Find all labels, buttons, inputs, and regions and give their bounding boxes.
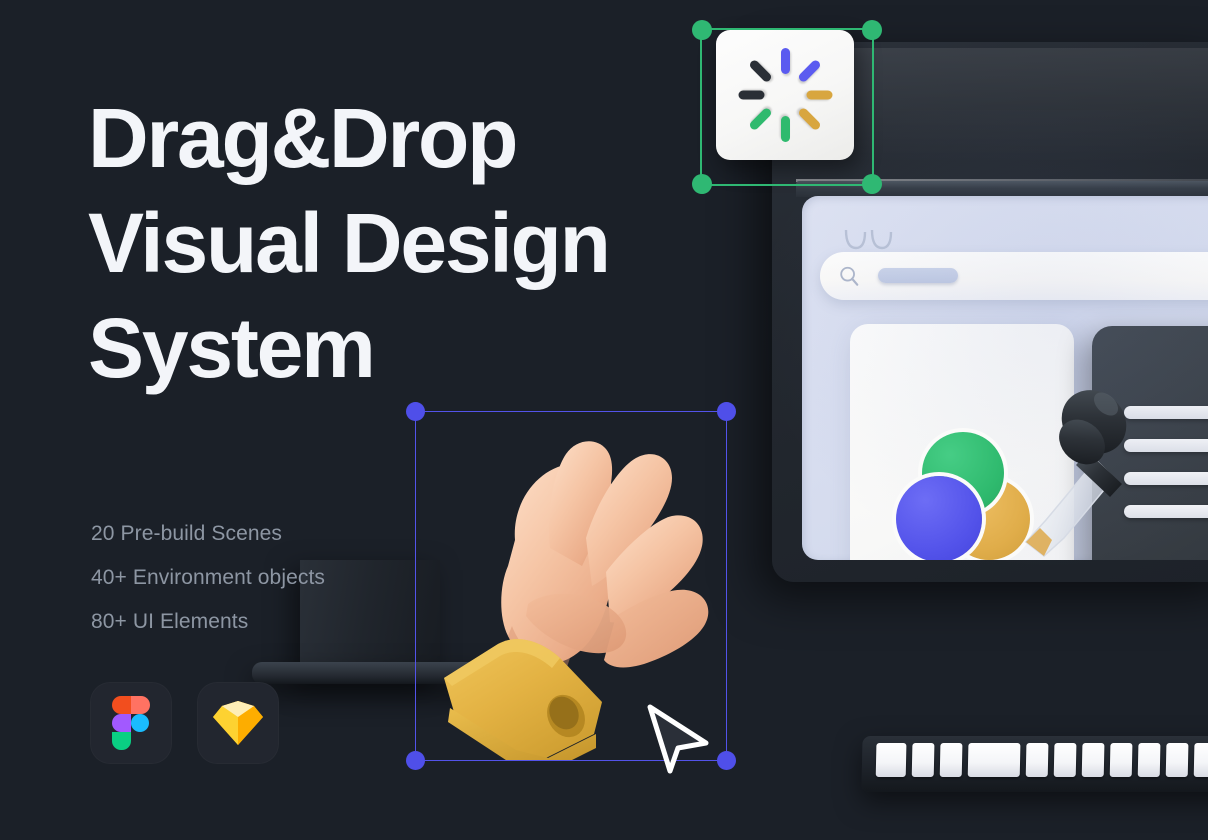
feature-item-objects: 40+ Environment objects (91, 556, 325, 600)
page-title: Drag&Drop Visual Design System (88, 86, 728, 401)
content-text-line (1124, 439, 1208, 452)
keyboard-key[interactable] (1138, 743, 1161, 777)
keyboard-key[interactable] (1082, 743, 1105, 777)
feature-item-scenes: 20 Pre-build Scenes (91, 512, 325, 556)
keyboard-key[interactable] (912, 743, 935, 777)
keyboard-key[interactable] (1026, 743, 1049, 777)
app-compatibility-icons (90, 682, 279, 764)
resize-handle-bottom-left[interactable] (692, 174, 712, 194)
resize-handle-top-left[interactable] (692, 20, 712, 40)
screen-toolbar[interactable] (820, 252, 1208, 300)
keyboard-key[interactable] (968, 743, 1021, 777)
eyedropper-icon[interactable] (990, 360, 1130, 560)
feature-item-elements: 80+ UI Elements (91, 600, 325, 644)
resize-handle-top-right[interactable] (862, 20, 882, 40)
feature-list: 20 Pre-build Scenes 40+ Environment obje… (91, 512, 325, 644)
resize-handle-bottom-right[interactable] (862, 174, 882, 194)
search-icon[interactable] (838, 265, 860, 287)
figma-icon-tile[interactable] (90, 682, 172, 764)
figma-icon (112, 696, 150, 750)
monitor-screen (802, 196, 1208, 560)
keyboard-key[interactable] (1166, 743, 1189, 777)
mouse-cursor-pointer[interactable] (645, 703, 711, 775)
headline-line-2: Visual Design (88, 191, 728, 296)
headline-line-3: System (88, 296, 728, 401)
resize-handle-bottom-left[interactable] (406, 751, 425, 770)
keyboard-key-row (876, 743, 1208, 777)
headline-line-1: Drag&Drop (88, 86, 728, 191)
toolbar-search-field[interactable] (878, 268, 958, 283)
poster-canvas: Drag&Drop Visual Design System 20 Pre-bu… (0, 0, 1208, 840)
content-text-line (1124, 472, 1208, 485)
keyboard-key[interactable] (940, 743, 963, 777)
keyboard-key[interactable] (1054, 743, 1077, 777)
resize-handle-top-left[interactable] (406, 402, 425, 421)
keyboard-key[interactable] (1110, 743, 1133, 777)
keyboard-key[interactable] (1194, 743, 1208, 777)
resize-handle-bottom-right[interactable] (717, 751, 736, 770)
loader-selection-box[interactable] (700, 28, 874, 186)
content-text-line (1124, 505, 1208, 518)
sketch-icon (211, 699, 265, 747)
content-text-line (1124, 406, 1208, 419)
keyboard-key[interactable] (876, 743, 907, 777)
color-picker-card[interactable] (850, 324, 1074, 560)
toolbar-hooks-decoration (840, 230, 900, 252)
sketch-icon-tile[interactable] (197, 682, 279, 764)
swatch-blue[interactable] (896, 476, 982, 560)
resize-handle-top-right[interactable] (717, 402, 736, 421)
desktop-keyboard[interactable] (861, 736, 1208, 792)
